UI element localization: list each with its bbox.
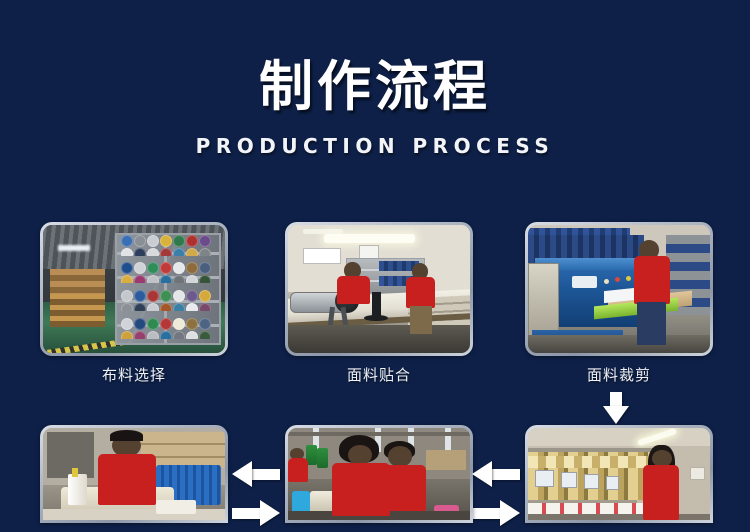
- process-step-6[interactable]: [525, 425, 713, 532]
- page-header: 制作流程 PRODUCTION PROCESS: [0, 0, 750, 200]
- photo-fabric-cutting: [528, 225, 710, 353]
- process-step-2[interactable]: 面料贴合: [285, 222, 473, 385]
- step-3-caption: 面料裁剪: [525, 365, 713, 385]
- photo-fabric-warehouse: [43, 225, 225, 353]
- process-row-2: [0, 425, 750, 525]
- step-6-photo-frame: [525, 425, 713, 523]
- step-2-photo-frame: [285, 222, 473, 356]
- photo-sewing-pair: [288, 428, 470, 520]
- photo-embroidery: [528, 428, 710, 520]
- process-step-5[interactable]: [285, 425, 473, 532]
- photo-fabric-laminating: [288, 225, 470, 353]
- step-5-photo-frame: [285, 425, 473, 523]
- arrow-left-icon: [232, 461, 280, 487]
- process-row-1: 布料选择: [0, 222, 750, 377]
- step-1-caption: 布料选择: [40, 365, 228, 385]
- page-title: 制作流程: [0, 56, 750, 118]
- page-subtitle: PRODUCTION PROCESS: [0, 134, 750, 158]
- step-1-photo-frame: [40, 222, 228, 356]
- step-3-photo-frame: [525, 222, 713, 356]
- arrow-down-icon: [603, 392, 629, 426]
- step-2-caption: 面料贴合: [285, 365, 473, 385]
- process-step-4[interactable]: [40, 425, 228, 532]
- process-grid: 布料选择: [0, 222, 750, 525]
- process-step-3[interactable]: 面料裁剪: [525, 222, 713, 385]
- process-step-1[interactable]: 布料选择: [40, 222, 228, 385]
- photo-sewing-single: [43, 428, 225, 520]
- production-process-page: 制作流程 PRODUCTION PROCESS: [0, 0, 750, 523]
- step-4-photo-frame: [40, 425, 228, 523]
- arrow-left-icon: [472, 461, 520, 487]
